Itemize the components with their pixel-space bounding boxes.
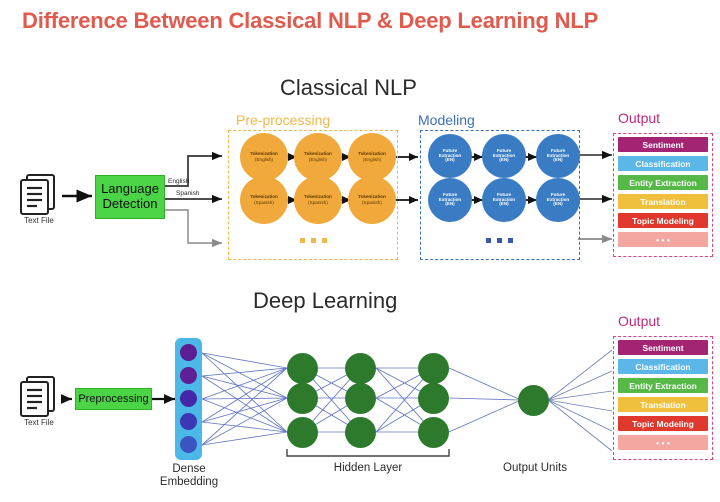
cell-line2: (English) [255, 158, 273, 163]
cell-line2: (Spanish) [362, 201, 382, 206]
preprocessing-cell-en-3[interactable]: Tokenization (English) [348, 133, 396, 181]
page-title: Difference Between Classical NLP & Deep … [22, 8, 598, 34]
cell-line1: Tokenization [358, 152, 386, 157]
deep-output-chip-sentiment[interactable]: Sentiment [618, 340, 708, 355]
cell-line3: (EN) [553, 202, 562, 207]
cell-line3: (EN) [445, 202, 454, 207]
output-chip-classification[interactable]: Classification [618, 156, 708, 171]
branch-label-english: English [168, 178, 189, 185]
output-chip-topic-modeling[interactable]: Topic Modeling [618, 213, 708, 228]
deep-output-chip-classification[interactable]: Classification [618, 359, 708, 374]
classical-output-label: Output [618, 110, 660, 126]
cell-line2: (English) [309, 158, 327, 163]
cell-line1: Tokenization [250, 195, 278, 200]
hidden-node-2-1[interactable] [345, 353, 376, 384]
output-chip-more[interactable]: • • • [618, 232, 708, 247]
hidden-node-1-3[interactable] [287, 417, 318, 448]
preprocessing-cell-en-1[interactable]: Tokenization (English) [240, 133, 288, 181]
dense-node-2[interactable] [180, 367, 197, 384]
cell-line1: Tokenization [358, 195, 386, 200]
cell-line3: (EN) [499, 158, 508, 163]
dense-node-4[interactable] [180, 413, 197, 430]
cell-line3: (EN) [445, 158, 454, 163]
dense-node-3[interactable] [180, 390, 197, 407]
preprocessing-label: Pre-processing [236, 112, 330, 128]
dense-node-5[interactable] [180, 436, 197, 453]
classical-heading: Classical NLP [280, 75, 417, 101]
preprocessing-cell-es-3[interactable]: Tokenization (Spanish) [348, 176, 396, 224]
hidden-node-2-3[interactable] [345, 417, 376, 448]
text-file-icon-deep: Text File [14, 374, 64, 430]
output-chip-entity-extraction[interactable]: Entity Extraction [618, 175, 708, 190]
cell-line1: Tokenization [304, 195, 332, 200]
modeling-cell-1-3[interactable]: Future Extraction (EN) [536, 134, 580, 178]
hidden-node-3-3[interactable] [418, 417, 449, 448]
output-unit-node[interactable] [518, 385, 549, 416]
dense-node-1[interactable] [180, 344, 197, 361]
dense-caption-line2: Embedding [152, 476, 226, 489]
cell-line3: (EN) [553, 158, 562, 163]
deep-output-chip-entity-extraction[interactable]: Entity Extraction [618, 378, 708, 393]
dense-caption-line1: Dense [152, 463, 226, 476]
language-detection-box[interactable]: Language Detection [95, 175, 165, 219]
cell-line2: (Spanish) [308, 201, 328, 206]
output-chip-translation[interactable]: Translation [618, 194, 708, 209]
preprocessing-cell-es-2[interactable]: Tokenization (Spanish) [294, 176, 342, 224]
text-file-caption-deep: Text File [14, 418, 64, 427]
output-chip-sentiment[interactable]: Sentiment [618, 137, 708, 152]
branch-label-spanish: Spanish [176, 190, 200, 197]
deep-output-chip-more[interactable]: • • • [618, 435, 708, 450]
hidden-node-3-1[interactable] [418, 353, 449, 384]
modeling-cell-2-1[interactable]: Future Extraction (EN) [428, 178, 472, 222]
preprocessing-cell-en-2[interactable]: Tokenization (English) [294, 133, 342, 181]
output-units-caption: Output Units [480, 462, 590, 475]
hidden-node-1-2[interactable] [287, 383, 318, 414]
modeling-cell-2-2[interactable]: Future Extraction (EN) [482, 178, 526, 222]
cell-line2: (English) [363, 158, 381, 163]
hidden-node-3-2[interactable] [418, 383, 449, 414]
cell-line1: Tokenization [304, 152, 332, 157]
modeling-cell-1-1[interactable]: Future Extraction (EN) [428, 134, 472, 178]
language-detection-line1: Language [101, 182, 159, 197]
deep-output-chip-topic-modeling[interactable]: Topic Modeling [618, 416, 708, 431]
deep-output-label: Output [618, 313, 660, 329]
modeling-ellipsis [486, 238, 513, 243]
hidden-node-1-1[interactable] [287, 353, 318, 384]
language-detection-line2: Detection [103, 197, 158, 212]
text-file-caption-classical: Text File [14, 216, 64, 225]
hidden-node-2-2[interactable] [345, 383, 376, 414]
deep-output-chip-translation[interactable]: Translation [618, 397, 708, 412]
dense-embedding-caption: Dense Embedding [152, 463, 226, 489]
modeling-cell-2-3[interactable]: Future Extraction (EN) [536, 178, 580, 222]
preprocessing-cell-es-1[interactable]: Tokenization (Spanish) [240, 176, 288, 224]
hidden-layer-caption: Hidden Layer [310, 462, 426, 475]
modeling-label: Modeling [418, 112, 475, 128]
cell-line3: (EN) [499, 202, 508, 207]
cell-line2: (Spanish) [254, 201, 274, 206]
text-file-icon-classical: Text File [14, 172, 64, 228]
deep-preprocessing-box[interactable]: Preprocessing [75, 388, 152, 410]
deep-learning-heading: Deep Learning [253, 288, 397, 314]
diagram-canvas: Difference Between Classical NLP & Deep … [0, 0, 720, 502]
cell-line1: Tokenization [250, 152, 278, 157]
preprocessing-ellipsis [300, 238, 327, 243]
modeling-cell-1-2[interactable]: Future Extraction (EN) [482, 134, 526, 178]
